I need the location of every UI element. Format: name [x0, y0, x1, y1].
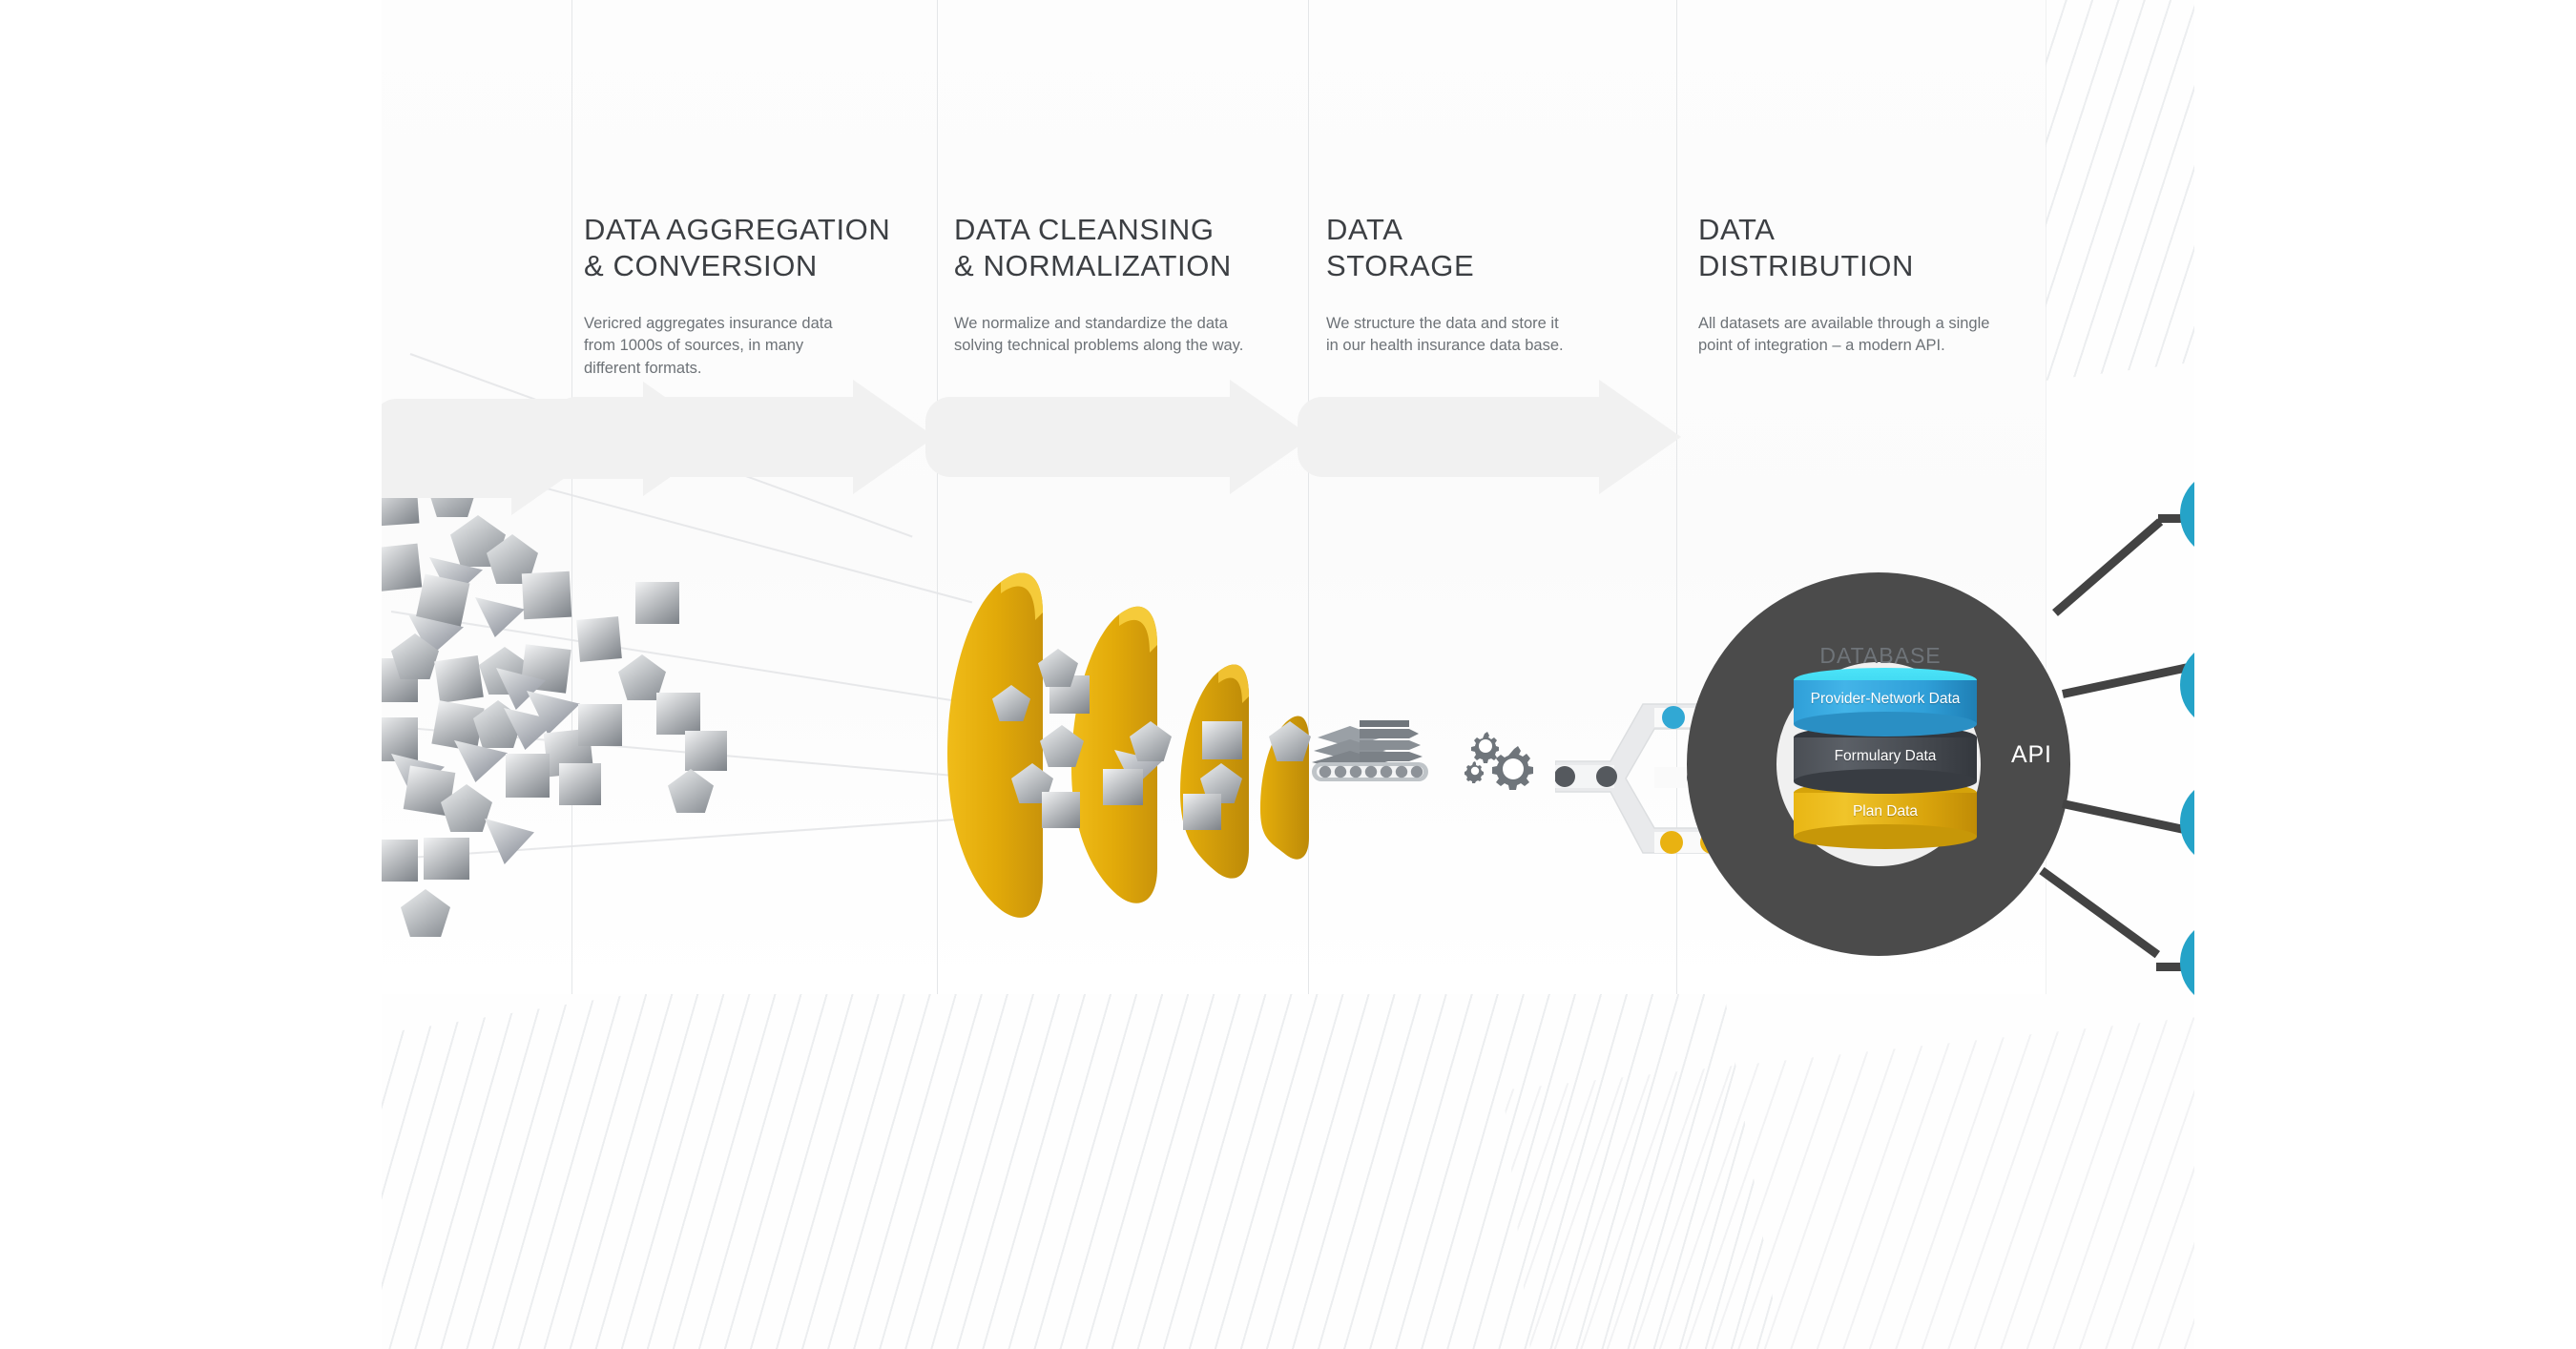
db-layer-label: Formulary Data — [1794, 748, 1977, 765]
flow-arrow-aggregation — [551, 380, 935, 494]
database-cylinder: Plan Data Formulary Data Provider-Networ… — [1794, 668, 1977, 849]
infographic-root: DATA AGGREGATION & CONVERSION Vericred a… — [0, 0, 2576, 1349]
distribution-item-benefit-platforms[interactable]: Benefit Platforms — [2180, 641, 2194, 729]
icon-bubble[interactable] — [2180, 470, 2194, 558]
distribution-item-doctor-referral-apps[interactable]: Doctor Referral Apps — [2180, 919, 2194, 1007]
db-layer-label: Provider-Network Data — [1794, 691, 1977, 708]
stage-title: DATA STORAGE — [1326, 212, 1698, 284]
stage-title: DATA DISTRIBUTION — [1698, 212, 2070, 284]
distribution-item-insurance-utilization-apps[interactable]: Insurance Utilization Apps — [2180, 470, 2194, 558]
stage-heading-cleansing: DATA CLEANSING & NORMALIZATION We normal… — [954, 212, 1326, 358]
column-panel-aggregation — [572, 0, 938, 994]
stage-body: All datasets are available through a sin… — [1698, 313, 2070, 359]
api-label: API — [2011, 741, 2088, 769]
stage-title: DATA AGGREGATION & CONVERSION — [584, 212, 956, 284]
background-texture-bottom-right — [1503, 1000, 2194, 1349]
icon-bubble[interactable] — [2180, 778, 2194, 866]
stage-title: DATA CLEANSING & NORMALIZATION — [954, 212, 1326, 284]
diagram-canvas: DATA AGGREGATION & CONVERSION Vericred a… — [382, 0, 2194, 1349]
icon-bubble[interactable] — [2180, 919, 2194, 1007]
stage-body: We structure the data and store it in ou… — [1326, 313, 1698, 359]
distribution-item-insurance-sales-enrollment-apps[interactable]: Insurance Sales & Enrollment Apps — [2180, 778, 2194, 866]
stage-body: Vericred aggregates insurance data from … — [584, 313, 956, 381]
icon-bubble[interactable] — [2180, 641, 2194, 729]
gears-icon — [1465, 730, 1541, 797]
stage-body: We normalize and standardize the data so… — [954, 313, 1326, 359]
conveyor-belt-icon — [1312, 720, 1436, 782]
flow-arrow-cleansing — [925, 380, 1312, 494]
data-flow-ribbon — [930, 563, 1312, 935]
stage-heading-aggregation: DATA AGGREGATION & CONVERSION Vericred a… — [584, 212, 956, 381]
database-caption: DATABASE — [1790, 643, 1971, 669]
stage-heading-distribution: DATA DISTRIBUTION All datasets are avail… — [1698, 212, 2070, 358]
db-layer-label: Plan Data — [1794, 803, 1977, 820]
stage-heading-storage: DATA STORAGE We structure the data and s… — [1326, 212, 1698, 358]
flow-arrow-storage — [1298, 380, 1681, 494]
